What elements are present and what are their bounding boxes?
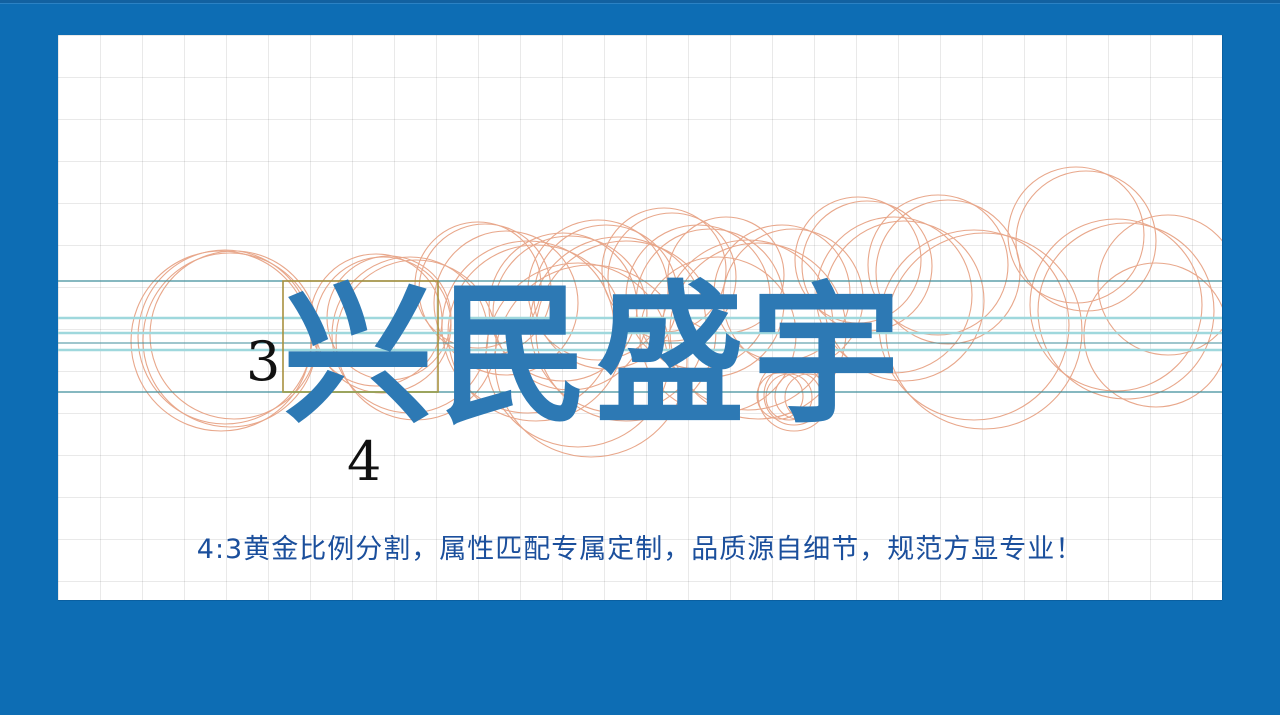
- ratio-height-label: 3: [246, 335, 280, 389]
- construction-circles: [131, 167, 1222, 457]
- artboard: 兴民盛宇 3 4 4:3黄金比例分割，属性匹配专属定制，品质源自细节，规范方显专…: [58, 35, 1222, 600]
- caption-text: 4:3黄金比例分割，属性匹配专属定制，品质源自细节，规范方显专业！: [58, 527, 1222, 566]
- slide-canvas: 兴民盛宇 3 4 4:3黄金比例分割，属性匹配专属定制，品质源自细节，规范方显专…: [0, 0, 1280, 715]
- construction-overlay: [58, 35, 1222, 600]
- ratio-width-label: 4: [347, 435, 381, 489]
- top-edge-rule-highlight: [0, 3, 1280, 4]
